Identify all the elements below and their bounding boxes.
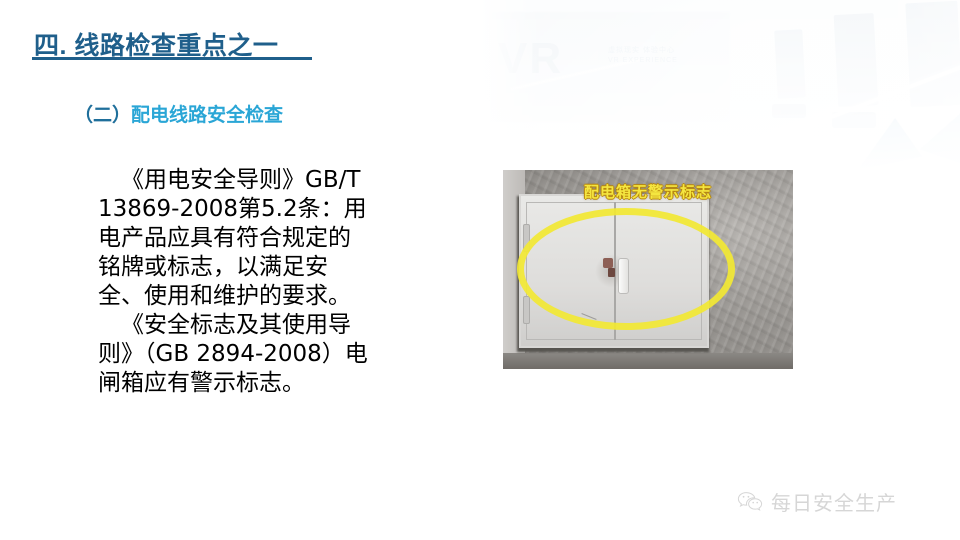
photo-caption: 配电箱无警示标志 xyxy=(503,181,793,202)
photo-yellow-highlight-ellipse xyxy=(517,208,735,330)
photo-cabinet-hinge-bottom xyxy=(523,296,530,324)
background-triangle-1 xyxy=(858,118,922,170)
background-panel-3 xyxy=(905,1,960,108)
body-paragraph-1: 《用电安全导则》GB/T 13869-2008第5.2条：用电产品应具有符合规定… xyxy=(98,166,370,311)
slide-canvas: VR 虚拟现实 体验中心 VR EXPERIENCE 四. 线路检查重点之一 （… xyxy=(0,0,960,540)
background-base xyxy=(480,0,960,170)
distribution-box-photo: 配电箱无警示标志 xyxy=(503,170,793,369)
body-paragraph-2: 《安全标志及其使用导则》（GB 2894-2008）电闸箱应有警示标志。 xyxy=(98,311,370,398)
background-diagonal-line xyxy=(765,36,960,144)
background-panel-1 xyxy=(774,29,806,98)
background-fade-overlay xyxy=(480,0,960,170)
wechat-icon xyxy=(737,491,763,513)
body-text-column: 《用电安全导则》GB/T 13869-2008第5.2条：用电产品应具有符合规定… xyxy=(98,166,370,398)
background-pedestal-2 xyxy=(832,112,876,128)
watermark: 每日安全生产 xyxy=(737,487,897,516)
background-screen xyxy=(490,12,730,122)
background-vr-letters: VR xyxy=(498,34,563,84)
background-triangle-2 xyxy=(920,96,960,170)
slide-subtitle: （二）配电线路安全检查 xyxy=(74,100,283,127)
photo-floor xyxy=(503,353,793,369)
background-screen-caption-line1: 虚拟现实 体验中心 xyxy=(608,46,678,56)
subtitle-number: （二） xyxy=(74,105,131,126)
background-panel-2 xyxy=(834,13,879,107)
background-pedestal-1 xyxy=(772,104,806,118)
title-underline-rule xyxy=(32,57,312,60)
background-decoration-photo: VR 虚拟现实 体验中心 VR EXPERIENCE xyxy=(480,0,960,170)
background-screen-caption: 虚拟现实 体验中心 VR EXPERIENCE xyxy=(608,46,678,66)
subtitle-text: 配电线路安全检查 xyxy=(131,105,283,126)
watermark-text: 每日安全生产 xyxy=(771,487,897,516)
background-screen-caption-line2: VR EXPERIENCE xyxy=(608,56,678,66)
